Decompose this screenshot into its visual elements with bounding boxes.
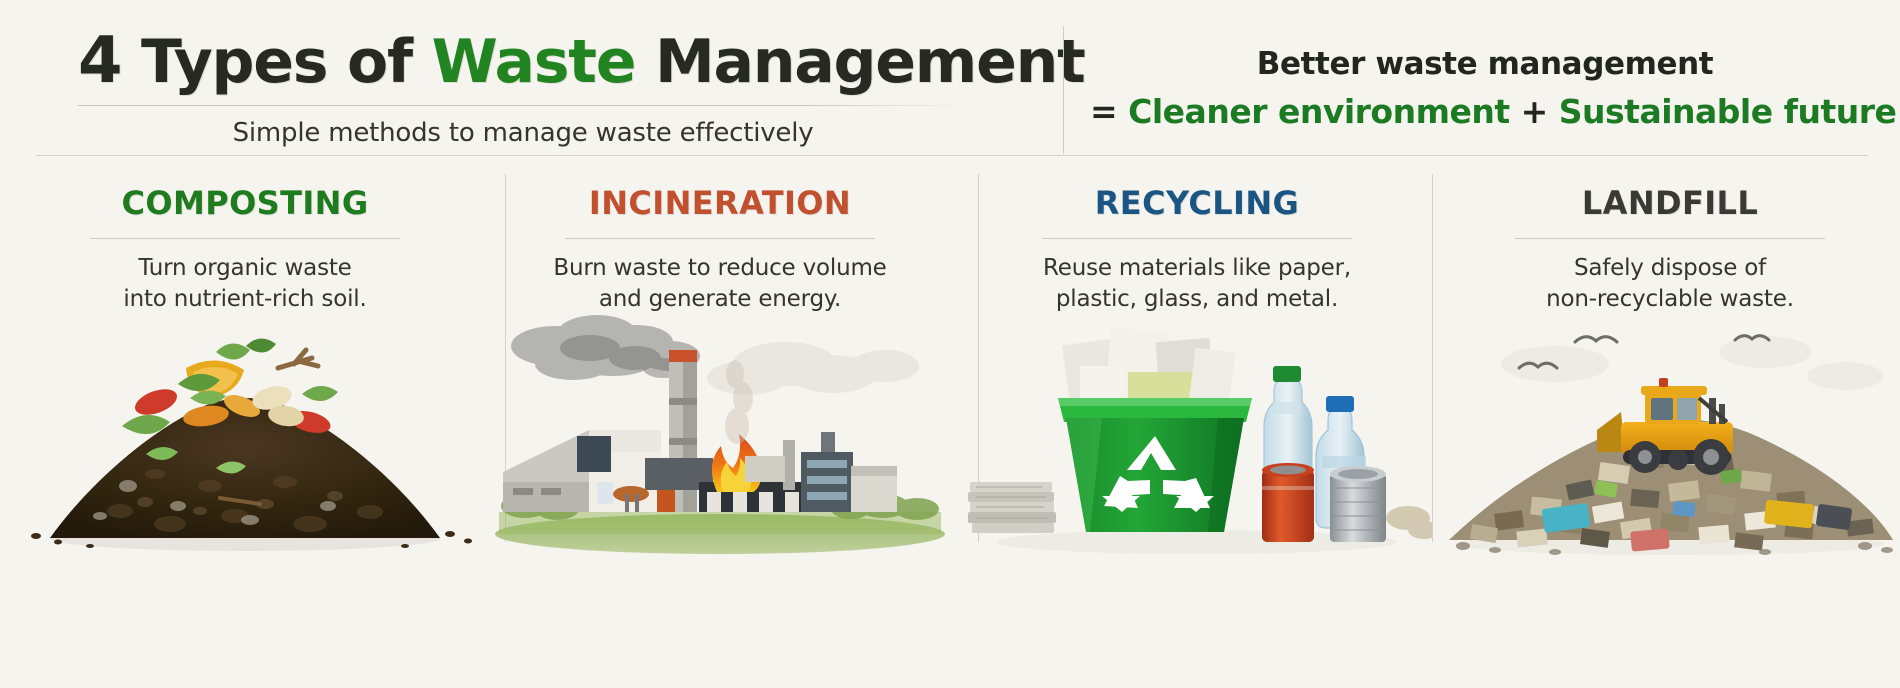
compost-pile-illustration: [10, 306, 480, 556]
column-heading-composting: COMPOSTING: [10, 184, 480, 222]
header-left-block: 4 Types of Waste Management Simple metho…: [78, 28, 978, 148]
column-heading-rule: [90, 238, 400, 239]
title-highlight-waste: Waste: [432, 27, 636, 97]
tagline-plus: +: [1510, 92, 1559, 131]
recycling-bin-illustration: [962, 306, 1432, 556]
incineration-plant-illustration: [485, 306, 955, 556]
column-heading-rule: [565, 238, 875, 239]
body-line-1: Safely dispose of: [1435, 253, 1900, 284]
title-part-1: Types of: [121, 27, 431, 97]
body-line-1: Reuse materials like paper,: [962, 253, 1432, 284]
title-part-2: Management: [635, 27, 1084, 97]
columns-container: COMPOSTING Turn organic waste into nutri…: [0, 156, 1900, 566]
column-heading-rule: [1042, 238, 1352, 239]
column-composting: COMPOSTING Turn organic waste into nutri…: [10, 156, 480, 566]
column-divider-3: [1432, 174, 1433, 542]
tagline-equals: =: [1090, 92, 1128, 131]
column-heading-incineration: INCINERATION: [485, 184, 955, 222]
title-number: 4: [78, 24, 121, 98]
tagline-line-2: = Cleaner environment + Sustainable futu…: [1090, 92, 1880, 131]
header-right-block: Better waste management = Cleaner enviro…: [1090, 46, 1880, 131]
page-subtitle: Simple methods to manage waste effective…: [78, 118, 968, 148]
body-line-1: Burn waste to reduce volume: [485, 253, 955, 284]
waste-management-infographic: 4 Types of Waste Management Simple metho…: [0, 0, 1900, 688]
tagline-line-1: Better waste management: [1090, 46, 1880, 82]
body-line-1: Turn organic waste: [10, 253, 480, 284]
column-heading-recycling: RECYCLING: [962, 184, 1432, 222]
header-vertical-divider: [1063, 26, 1064, 154]
landfill-pile-illustration: [1435, 306, 1900, 556]
title-underline-rule: [78, 105, 968, 106]
column-heading-rule: [1515, 238, 1825, 239]
column-landfill: LANDFILL Safely dispose of non-recyclabl…: [1435, 156, 1900, 566]
column-recycling: RECYCLING Reuse materials like paper, pl…: [962, 156, 1432, 566]
tagline-sustainable-future: Sustainable future: [1559, 92, 1897, 131]
tagline-cleaner-environment: Cleaner environment: [1128, 92, 1510, 131]
column-heading-landfill: LANDFILL: [1435, 184, 1900, 222]
page-title: 4 Types of Waste Management: [78, 28, 978, 95]
column-incineration: INCINERATION Burn waste to reduce volume…: [485, 156, 955, 566]
